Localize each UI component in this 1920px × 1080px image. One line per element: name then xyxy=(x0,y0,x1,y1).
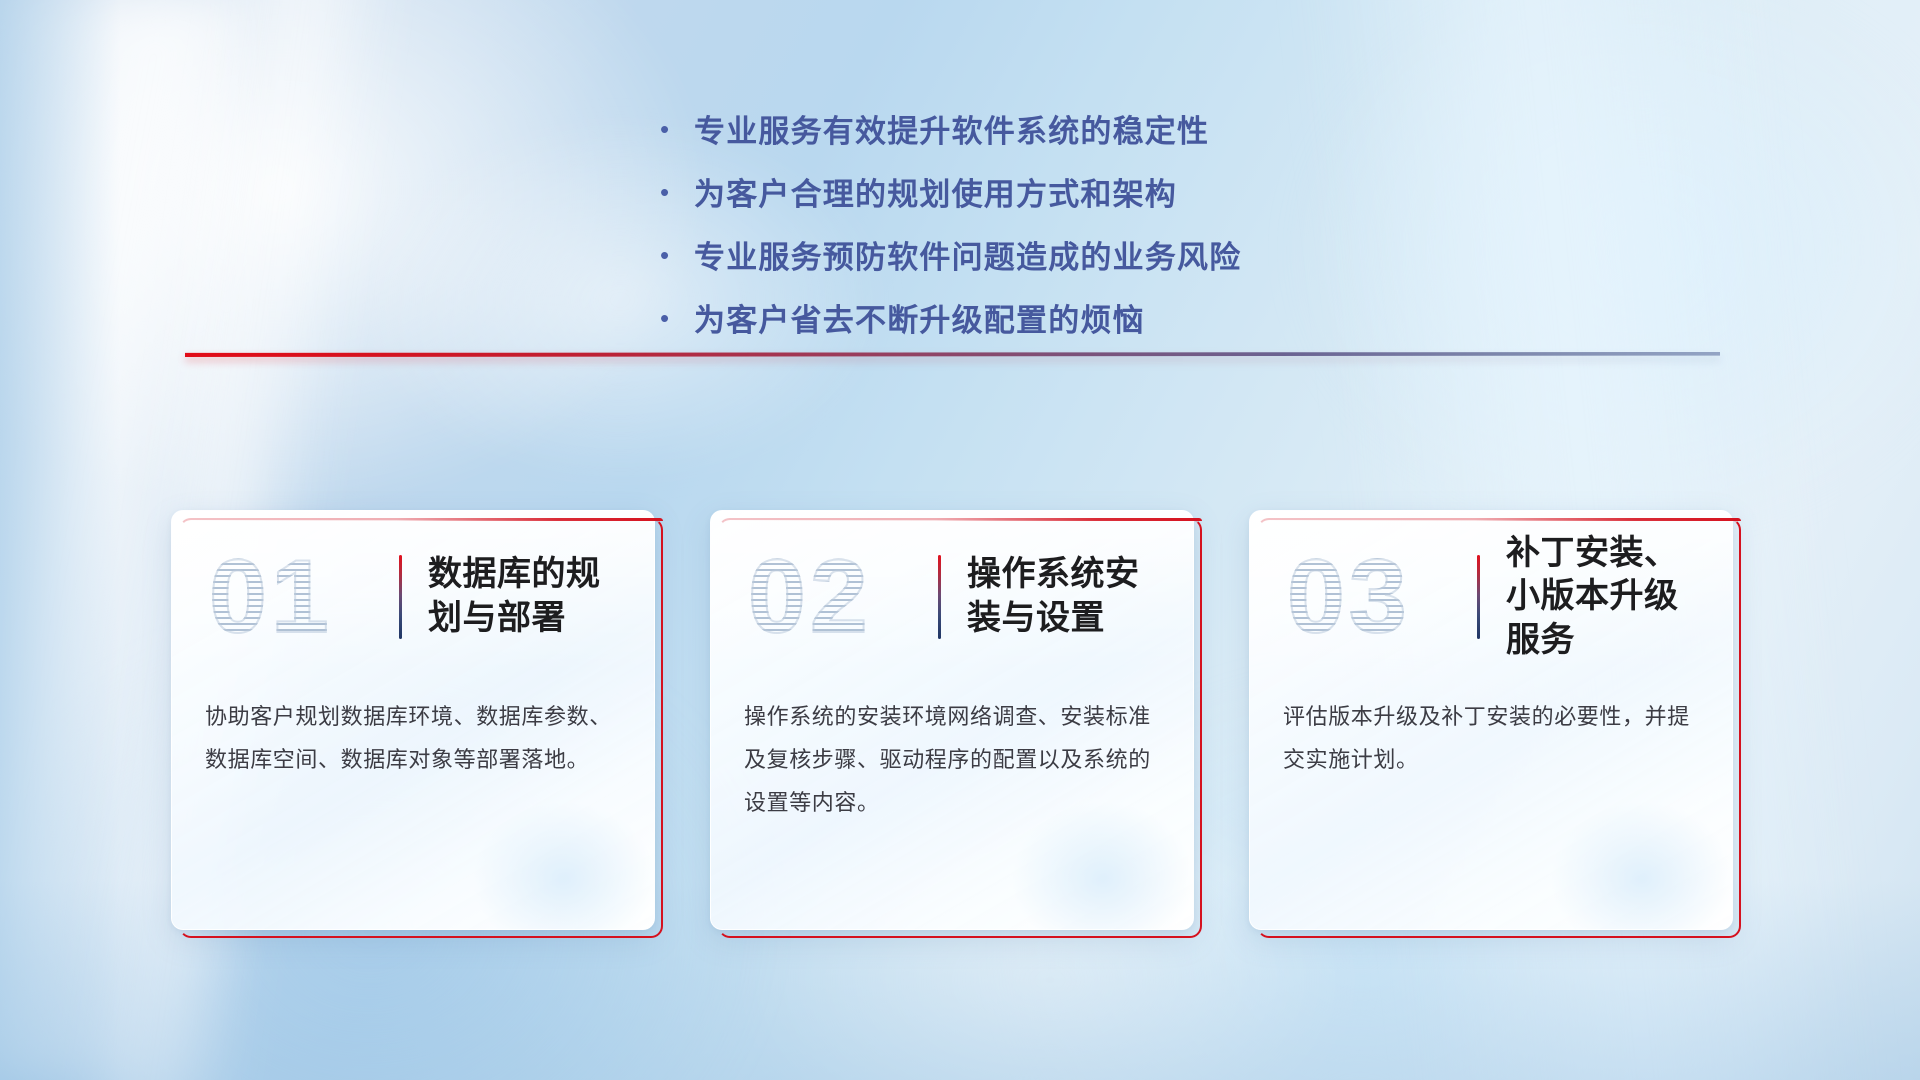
card-content: 01 数据库的规划与部署 协助客户规划数据库环境、数据库参数、数据库空间、数据库… xyxy=(171,510,655,930)
card-number-watermark: 01 xyxy=(205,545,395,649)
section-divider-glow xyxy=(185,356,1720,362)
service-card-03[interactable]: 03 补丁安装、小版本升级服务 评估版本升级及补丁安装的必要性，并提交实施计划。 xyxy=(1257,518,1741,938)
service-cards-row: 01 数据库的规划与部署 协助客户规划数据库环境、数据库参数、数据库空间、数据库… xyxy=(179,518,1741,938)
bullet-item: 专业服务有效提升软件系统的稳定性 xyxy=(660,112,1420,153)
card-title: 操作系统安装与设置 xyxy=(967,553,1160,640)
card-title-divider-bar xyxy=(938,555,941,639)
card-title: 补丁安装、小版本升级服务 xyxy=(1506,532,1699,663)
card-title-divider-bar xyxy=(399,555,402,639)
card-number-watermark: 02 xyxy=(744,545,934,649)
bullet-item-label: 专业服务预防软件问题造成的业务风险 xyxy=(694,238,1241,279)
bullet-item: 为客户合理的规划使用方式和架构 xyxy=(660,175,1420,216)
bullet-item-label: 为客户合理的规划使用方式和架构 xyxy=(694,175,1177,216)
bullet-item: 专业服务预防软件问题造成的业务风险 xyxy=(660,238,1420,279)
bullet-marker-icon xyxy=(660,242,694,268)
slide-canvas: 专业服务有效提升软件系统的稳定性 为客户合理的规划使用方式和架构 专业服务预防软… xyxy=(0,0,1920,1080)
background-vignette-left xyxy=(0,0,120,1080)
bullet-marker-icon xyxy=(660,305,694,331)
card-header: 01 数据库的规划与部署 xyxy=(205,538,621,656)
card-title: 数据库的规划与部署 xyxy=(428,553,621,640)
bullet-marker-icon xyxy=(660,116,694,142)
service-card-02[interactable]: 02 操作系统安装与设置 操作系统的安装环境网络调查、安装标准及复核步骤、驱动程… xyxy=(718,518,1202,938)
bullet-item: 为客户省去不断升级配置的烦恼 xyxy=(660,301,1420,342)
bullet-item-label: 为客户省去不断升级配置的烦恼 xyxy=(694,301,1145,342)
card-header: 02 操作系统安装与设置 xyxy=(744,538,1160,656)
card-description: 评估版本升级及补丁安装的必要性，并提交实施计划。 xyxy=(1283,696,1699,782)
bullet-marker-icon xyxy=(660,179,694,205)
card-title-divider-bar xyxy=(1477,555,1480,639)
card-number-watermark: 03 xyxy=(1283,545,1473,649)
section-divider xyxy=(185,348,1720,362)
card-header: 03 补丁安装、小版本升级服务 xyxy=(1283,538,1699,656)
service-card-01[interactable]: 01 数据库的规划与部署 协助客户规划数据库环境、数据库参数、数据库空间、数据库… xyxy=(179,518,663,938)
bullet-item-label: 专业服务有效提升软件系统的稳定性 xyxy=(694,112,1209,153)
card-content: 02 操作系统安装与设置 操作系统的安装环境网络调查、安装标准及复核步骤、驱动程… xyxy=(710,510,1194,930)
benefits-bullet-list: 专业服务有效提升软件系统的稳定性 为客户合理的规划使用方式和架构 专业服务预防软… xyxy=(660,112,1420,364)
card-content: 03 补丁安装、小版本升级服务 评估版本升级及补丁安装的必要性，并提交实施计划。 xyxy=(1249,510,1733,930)
card-description: 协助客户规划数据库环境、数据库参数、数据库空间、数据库对象等部署落地。 xyxy=(205,696,621,782)
card-description: 操作系统的安装环境网络调查、安装标准及复核步骤、驱动程序的配置以及系统的设置等内… xyxy=(744,696,1160,825)
